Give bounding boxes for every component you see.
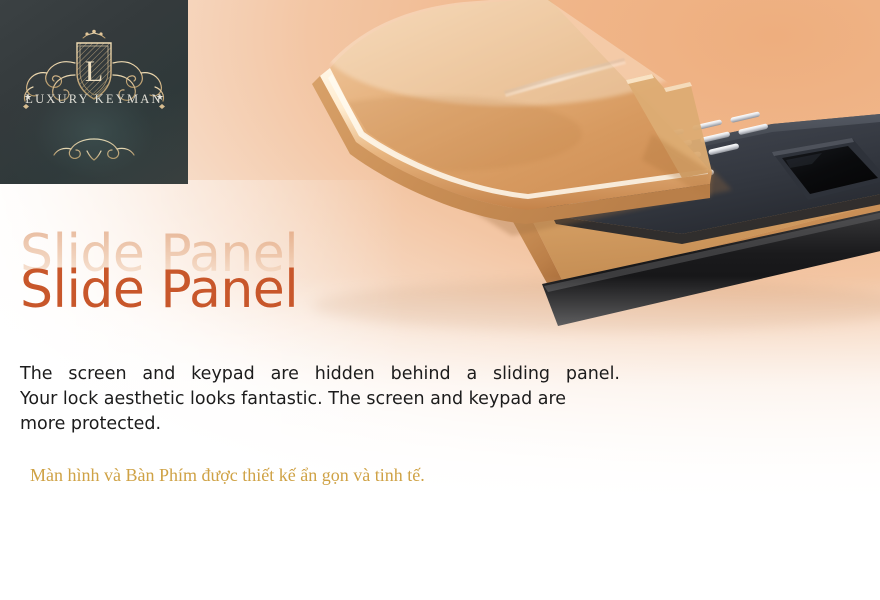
description-line-3: more protected. [20, 412, 620, 437]
brand-logo-badge: L ★ LUXURY KEYMAN ★ [0, 0, 188, 184]
description-paragraph: The screen and keypad are hidden behind … [20, 362, 620, 437]
description-line-2: Your lock aesthetic looks fantastic. The… [20, 387, 620, 412]
vietnamese-caption: Màn hình và Bàn Phím được thiết kế ẩn gọ… [30, 463, 425, 487]
logo-monogram: L [85, 55, 103, 88]
logo-star-right-icon: ★ [156, 93, 164, 102]
promo-banner: L ★ LUXURY KEYMAN ★ Slide Panel Slide Pa… [0, 0, 880, 600]
description-line-1: The screen and keypad are hidden behind … [20, 362, 620, 387]
page-title: Slide Panel [20, 264, 298, 316]
headline-block: Slide Panel Slide Panel [18, 228, 538, 338]
